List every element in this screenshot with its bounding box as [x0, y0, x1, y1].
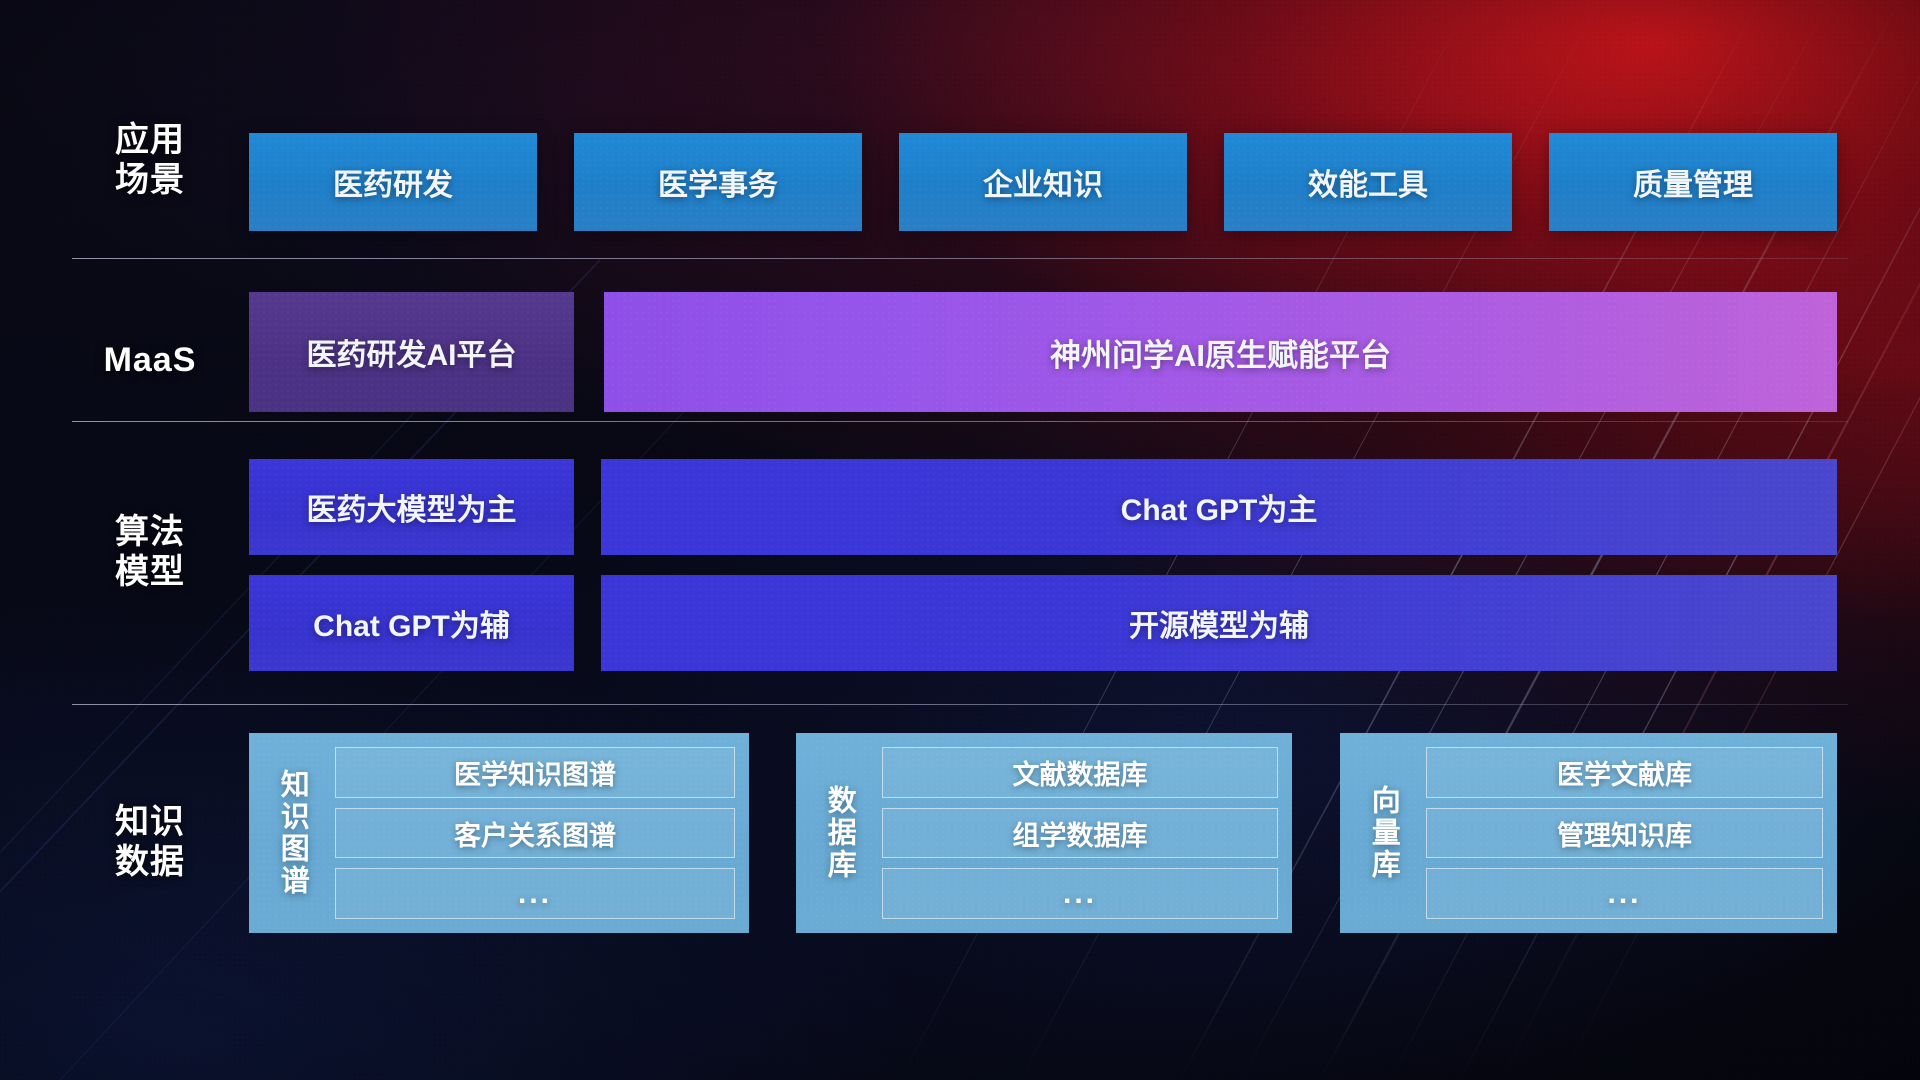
scene-box-1-label: 医学事务 — [658, 160, 778, 204]
scene-box-3[interactable]: 效能工具 — [1224, 133, 1512, 231]
maas-box-shenzhou-platform-label: 神州问学AI原生赋能平台 — [1050, 330, 1391, 375]
algo-box-chatgpt-secondary-label: Chat GPT为辅 — [313, 601, 510, 645]
knowledge-card-vector-store[interactable]: 向量库 医学文献库 管理知识库 ... — [1340, 733, 1837, 933]
knowledge-item-customer-relation-graph[interactable]: 客户关系图谱 — [335, 808, 735, 859]
knowledge-card-database-title: 数据库 — [796, 747, 882, 919]
knowledge-card-knowledge-graph-items: 医学知识图谱 客户关系图谱 ... — [335, 747, 735, 919]
scene-box-2-label: 企业知识 — [983, 160, 1103, 204]
knowledge-card-vector-store-items: 医学文献库 管理知识库 ... — [1426, 747, 1823, 919]
knowledge-item-management-knowledge-store[interactable]: 管理知识库 — [1426, 808, 1823, 859]
diagram-canvas: 应用 场景 医药研发 医学事务 企业知识 效能工具 质量管理 MaaS 医药研发… — [0, 0, 1920, 1080]
knowledge-item-management-knowledge-store-label: 管理知识库 — [1557, 814, 1692, 853]
knowledge-item-vector-more-label: ... — [1607, 877, 1641, 911]
scene-box-1[interactable]: 医学事务 — [574, 133, 862, 231]
knowledge-item-omics-database[interactable]: 组学数据库 — [882, 808, 1278, 859]
maas-box-medicine-ai-platform-label: 医药研发AI平台 — [307, 330, 517, 374]
algo-box-chatgpt-primary[interactable]: Chat GPT为主 — [601, 459, 1837, 555]
knowledge-item-database-more-label: ... — [1063, 877, 1097, 911]
knowledge-item-customer-relation-graph-label: 客户关系图谱 — [454, 814, 616, 853]
scene-box-2[interactable]: 企业知识 — [899, 133, 1187, 231]
row-label-knowledge-data: 知识 数据 — [65, 802, 235, 882]
knowledge-card-knowledge-graph-title: 知识图谱 — [249, 747, 335, 919]
knowledge-item-medical-knowledge-graph[interactable]: 医学知识图谱 — [335, 747, 735, 798]
knowledge-item-literature-database-label: 文献数据库 — [1013, 753, 1148, 792]
algo-box-opensource-secondary-label: 开源模型为辅 — [1129, 601, 1309, 645]
knowledge-item-medical-knowledge-graph-label: 医学知识图谱 — [454, 753, 616, 792]
row-label-application-scenarios: 应用 场景 — [65, 120, 235, 200]
row-label-algorithm-models: 算法 模型 — [65, 512, 235, 592]
knowledge-item-graph-more[interactable]: ... — [335, 868, 735, 919]
divider-3 — [72, 704, 1848, 705]
scene-box-4[interactable]: 质量管理 — [1549, 133, 1837, 231]
scene-box-0[interactable]: 医药研发 — [249, 133, 537, 231]
knowledge-card-database[interactable]: 数据库 文献数据库 组学数据库 ... — [796, 733, 1292, 933]
knowledge-item-medical-literature-store[interactable]: 医学文献库 — [1426, 747, 1823, 798]
algo-box-medicine-model-primary-label: 医药大模型为主 — [307, 485, 517, 529]
knowledge-card-database-items: 文献数据库 组学数据库 ... — [882, 747, 1278, 919]
scene-box-0-label: 医药研发 — [333, 160, 453, 204]
algo-box-medicine-model-primary[interactable]: 医药大模型为主 — [249, 459, 574, 555]
maas-box-shenzhou-platform[interactable]: 神州问学AI原生赋能平台 — [604, 292, 1837, 412]
algo-box-opensource-secondary[interactable]: 开源模型为辅 — [601, 575, 1837, 671]
knowledge-item-graph-more-label: ... — [518, 877, 552, 911]
knowledge-item-literature-database[interactable]: 文献数据库 — [882, 747, 1278, 798]
maas-box-medicine-ai-platform[interactable]: 医药研发AI平台 — [249, 292, 574, 412]
knowledge-item-vector-more[interactable]: ... — [1426, 868, 1823, 919]
knowledge-card-knowledge-graph[interactable]: 知识图谱 医学知识图谱 客户关系图谱 ... — [249, 733, 749, 933]
scene-box-4-label: 质量管理 — [1633, 160, 1753, 204]
knowledge-item-database-more[interactable]: ... — [882, 868, 1278, 919]
scene-box-3-label: 效能工具 — [1308, 160, 1428, 204]
knowledge-item-omics-database-label: 组学数据库 — [1013, 814, 1148, 853]
row-label-maas: MaaS — [65, 340, 235, 380]
knowledge-item-medical-literature-store-label: 医学文献库 — [1557, 753, 1692, 792]
knowledge-card-vector-store-title: 向量库 — [1340, 747, 1426, 919]
divider-1 — [72, 258, 1848, 259]
algo-box-chatgpt-primary-label: Chat GPT为主 — [1121, 485, 1318, 529]
divider-2 — [72, 421, 1848, 422]
algo-box-chatgpt-secondary[interactable]: Chat GPT为辅 — [249, 575, 574, 671]
